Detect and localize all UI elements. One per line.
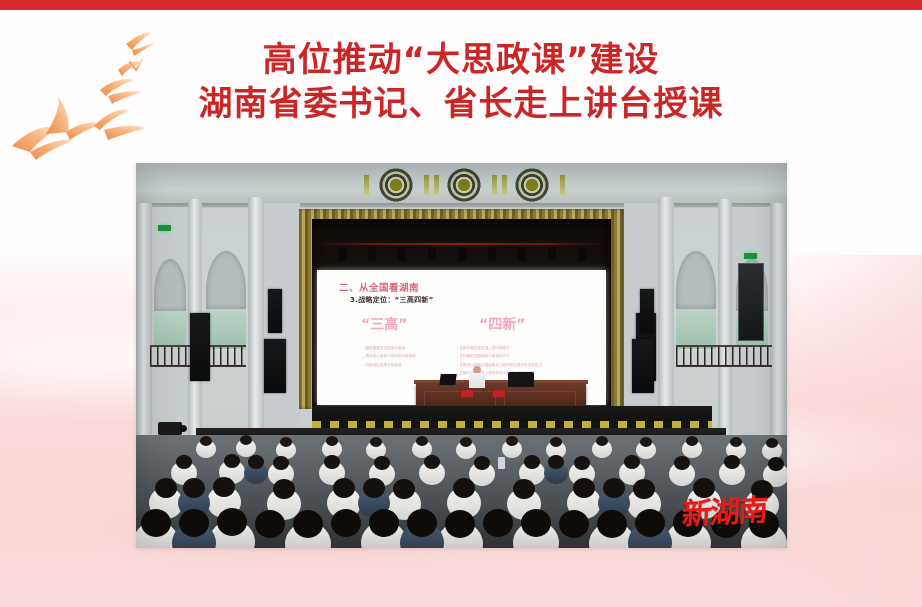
slide-bullet: 具有核心竞争力的科技创新高地 — [363, 352, 416, 360]
slide-keyword-right: “四新” — [479, 314, 525, 334]
wall-bar-ornament — [492, 175, 497, 195]
red-document-folder — [492, 389, 506, 398]
stage-curtain-edge — [316, 243, 606, 245]
left-wall-column — [136, 203, 152, 438]
wall-bar-ornament — [364, 175, 369, 195]
wall-medallion-icon — [376, 166, 416, 204]
slide-bullet: 国家重要先进制造业高地 — [363, 344, 416, 352]
wall-bar-ornament — [424, 175, 429, 195]
exit-sign-icon — [158, 225, 171, 231]
side-door[interactable] — [738, 263, 764, 341]
slide-subheading: 3.战略定位：“三高四新” — [350, 295, 434, 305]
wall-medallion-icon — [444, 166, 484, 204]
page-title: 高位推动“大思政课”建设 湖南省委书记、省长走上讲台授课 — [0, 38, 922, 126]
title-line-2: 湖南省委书记、省长走上讲台授课 — [0, 82, 922, 126]
slide-keyword-left: “三高” — [361, 314, 407, 334]
red-document-folder — [460, 389, 474, 398]
lecturer-figure — [469, 366, 485, 388]
wall-medallion-icon — [512, 166, 552, 204]
right-balcony-railing — [676, 345, 772, 367]
slide-bullet: 在推动高质量发展上闯出新路子 — [457, 344, 542, 352]
speaker-right-2 — [640, 289, 654, 333]
slide-bullets-left: 国家重要先进制造业高地 具有核心竞争力的科技创新高地 内陆地区改革开放高地 — [363, 344, 416, 369]
left-arch-2-infill — [206, 309, 246, 349]
laptop-on-podium — [439, 374, 457, 385]
right-wall-column — [770, 203, 787, 438]
slide-bullet: 在构建新发展格局中展现新作为 — [457, 352, 542, 360]
stage-platform-edge-stripe — [312, 421, 712, 428]
wall-bar-ornament — [560, 175, 565, 195]
wall-bar-ornament — [502, 175, 507, 195]
right-column-1 — [658, 197, 674, 439]
video-camera-icon — [158, 422, 182, 435]
right-arch-1-infill — [676, 309, 716, 349]
speaker-left-3 — [264, 339, 286, 393]
left-arch-infill — [154, 311, 186, 345]
exit-sign-icon — [744, 253, 757, 259]
auditorium-photo: 二、从全国看湖南 3.战略定位：“三高四新” “三高” “四新” 国家重要先进制… — [136, 163, 787, 548]
title-line-1: 高位推动“大思政课”建设 — [0, 38, 922, 82]
audience-seating — [136, 435, 787, 548]
speaker-left-2 — [268, 289, 282, 333]
stage-light-row — [316, 247, 606, 261]
podium-chair — [508, 372, 534, 387]
line-array-speaker-left — [190, 313, 210, 381]
lecturer-body — [469, 373, 485, 388]
right-column-2 — [718, 199, 732, 439]
top-accent-bar — [0, 0, 922, 10]
slide-heading: 二、从全国看湖南 — [339, 280, 419, 294]
camera-lens-icon — [180, 425, 187, 432]
left-column-3 — [248, 197, 264, 439]
speaker-right-3 — [632, 339, 654, 393]
slide-bullet: 内陆地区改革开放高地 — [363, 361, 416, 369]
wall-bar-ornament — [434, 175, 439, 195]
